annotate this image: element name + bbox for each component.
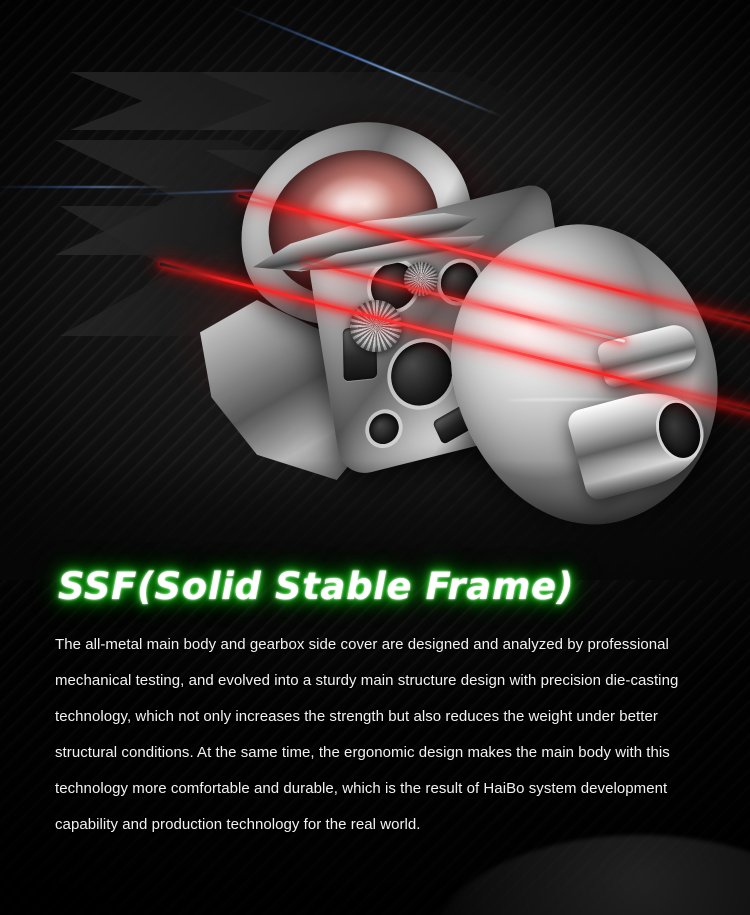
feature-content: SSF(Solid Stable Frame) The all-metal ma… [0, 566, 750, 843]
hero-product-image [0, 0, 750, 580]
product-feature-page: SSF(Solid Stable Frame) The all-metal ma… [0, 0, 750, 915]
mechanical-assembly [0, 0, 750, 580]
housing-bore-5 [367, 410, 401, 447]
gear-teeth-1 [350, 300, 402, 352]
feature-title: SSF(Solid Stable Frame) [58, 566, 750, 609]
housing-bore-3 [387, 336, 457, 412]
feature-description: The all-metal main body and gearbox side… [55, 627, 680, 843]
